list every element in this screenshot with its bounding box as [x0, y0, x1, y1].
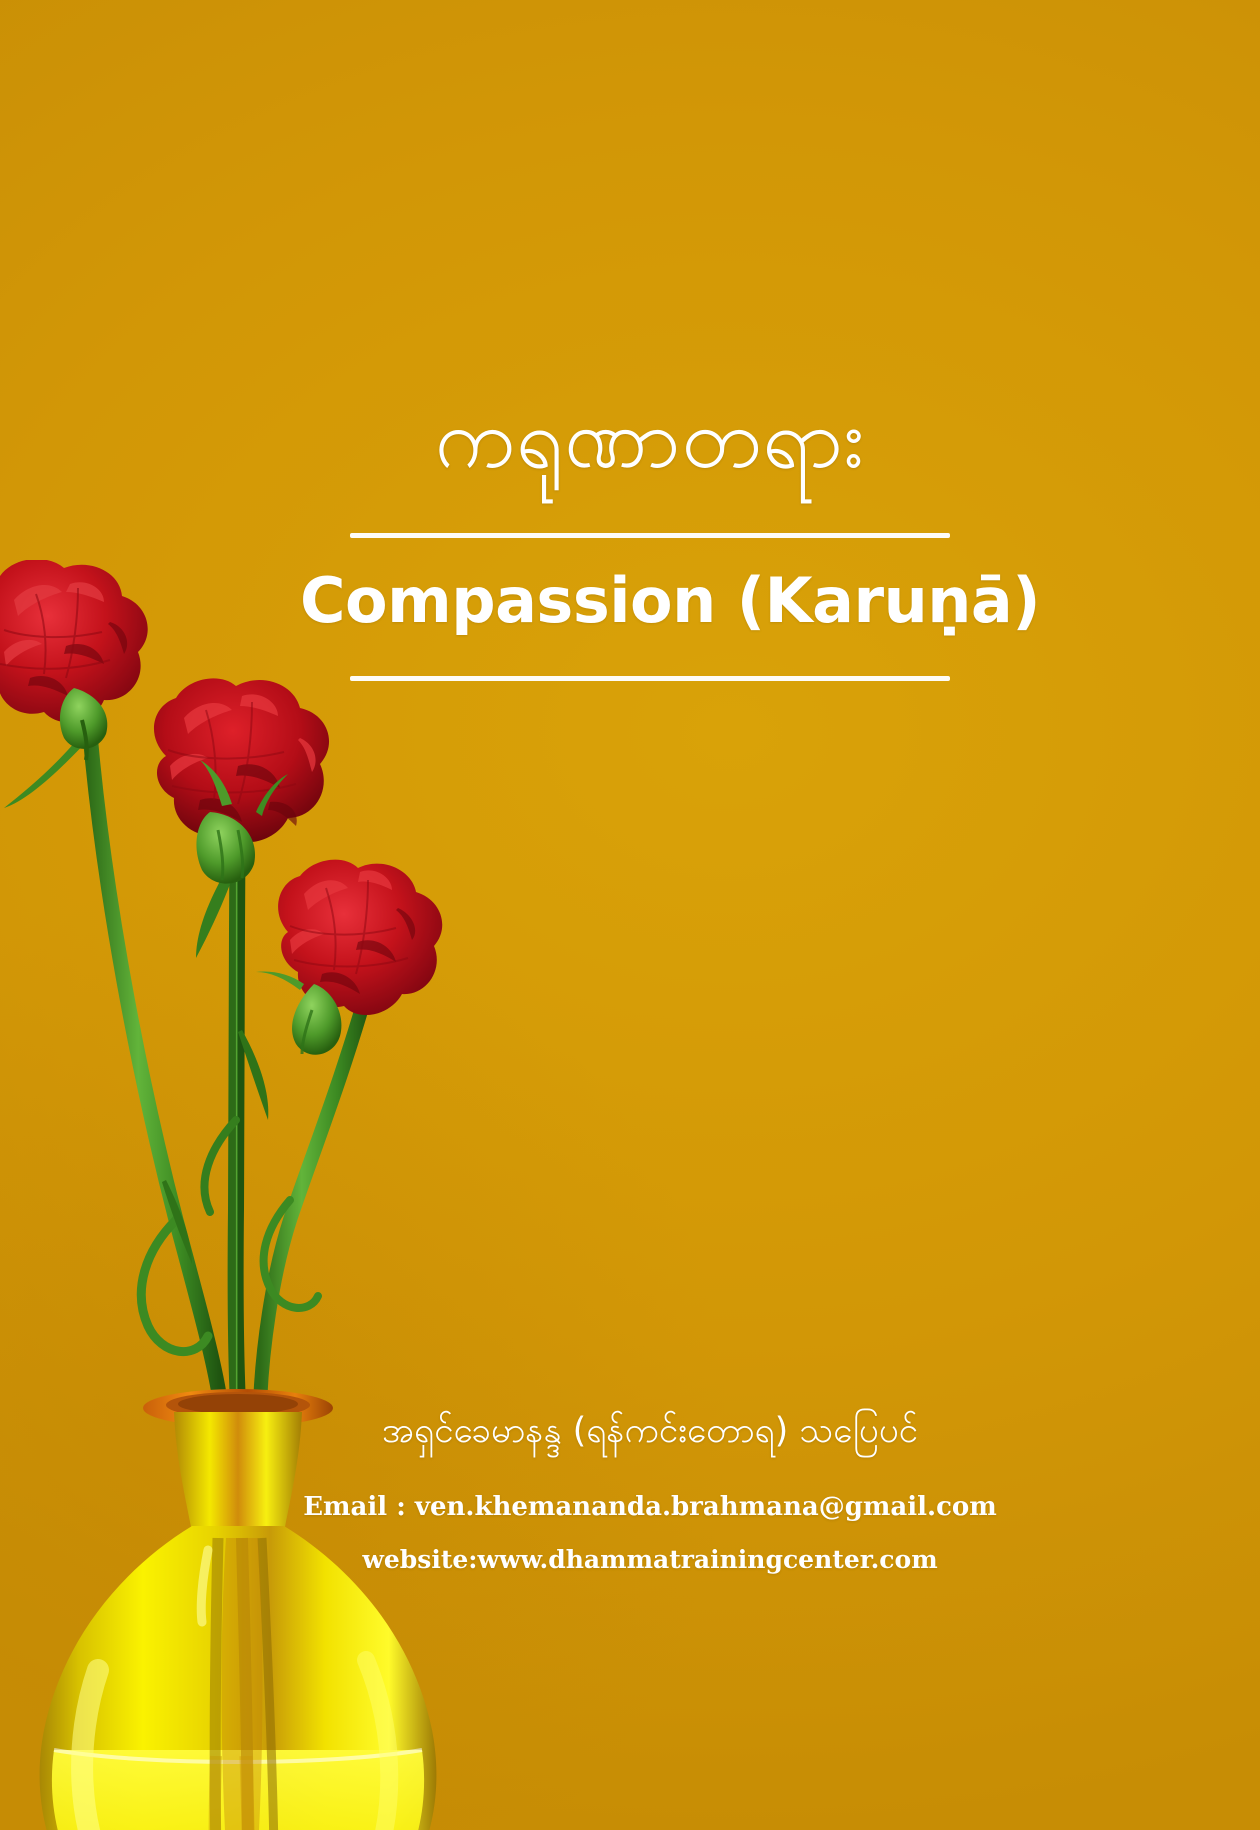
- contact-email: Email : ven.khemananda.brahmana@gmail.co…: [300, 1493, 1000, 1522]
- contact-website: website:www.dhammatrainingcenter.com: [300, 1546, 1000, 1574]
- book-cover: ကရုဏာတရား Compassion (Karuṇā) အရှင်ခေမာန…: [0, 0, 1260, 1830]
- carnation-bloom-upper-left: [0, 560, 148, 760]
- carnation-bloom-middle: [154, 678, 329, 883]
- credits-block: အရှင်ခေမာနန္ဒ (ရန်ကင်းတောရ) သပြေပင် Emai…: [300, 1408, 1000, 1573]
- title-divider-top: [350, 533, 950, 538]
- title-block: ကရုဏာတရား Compassion (Karuṇā): [300, 392, 1000, 681]
- title-english: Compassion (Karuṇā): [300, 564, 1000, 638]
- title-burmese: ကရုဏာတရား: [300, 392, 1000, 489]
- title-divider-bottom: [350, 676, 950, 681]
- carnation-vase-artwork: [0, 560, 490, 1830]
- author-name: အရှင်ခေမာနန္ဒ (ရန်ကင်းတောရ) သပြေပင်: [300, 1408, 1000, 1455]
- carnation-bloom-lower-right: [256, 860, 442, 1055]
